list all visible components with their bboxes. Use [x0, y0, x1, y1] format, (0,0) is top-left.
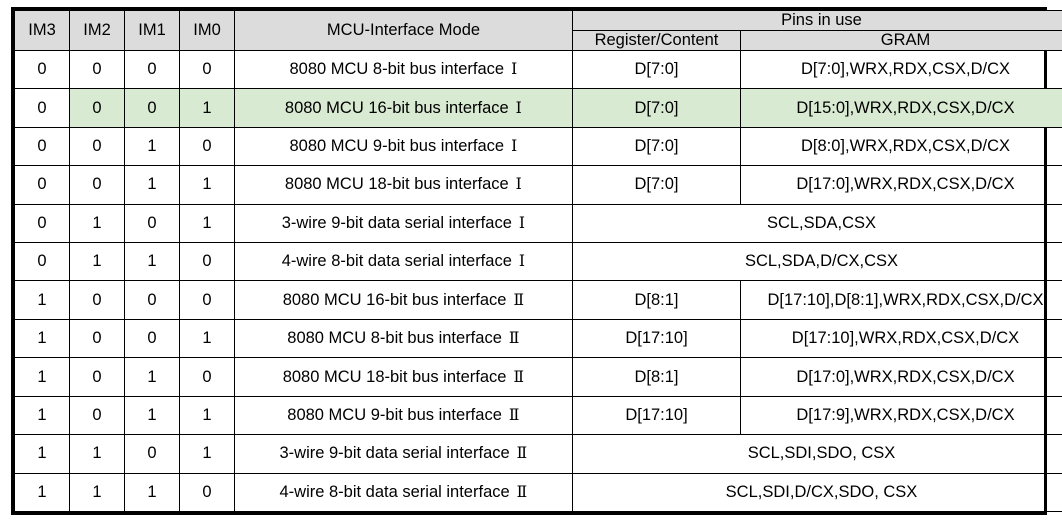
table-row: 00008080 MCU 8-bit bus interfaceⅠD[7:0]D…: [15, 50, 1062, 88]
cell-im0: 1: [180, 89, 235, 127]
mode-roman-numeral: Ⅰ: [504, 138, 517, 155]
table-row: 10018080 MCU 8-bit bus interfaceⅡD[17:10…: [15, 319, 1062, 357]
table-row: 01104-wire 8-bit data serial interfaceⅠS…: [15, 243, 1062, 281]
mode-roman-numeral: Ⅰ: [504, 61, 517, 78]
mode-label: 8080 MCU 8-bit bus interface: [287, 329, 502, 347]
mode-roman-numeral: Ⅱ: [506, 369, 524, 386]
table-row: 00118080 MCU 18-bit bus interfaceⅠD[7:0]…: [15, 166, 1062, 204]
column-header-im2: IM2: [70, 11, 125, 51]
cell-im2: 0: [70, 281, 125, 319]
cell-mcu-interface-mode: 4-wire 8-bit data serial interfaceⅠ: [235, 243, 573, 281]
cell-im0: 1: [180, 319, 235, 357]
cell-im1: 0: [125, 50, 180, 88]
cell-im2: 1: [70, 243, 125, 281]
table-row: 11013-wire 9-bit data serial interfaceⅡS…: [15, 435, 1062, 473]
cell-mcu-interface-mode: 8080 MCU 9-bit bus interfaceⅠ: [235, 127, 573, 165]
mode-roman-numeral: Ⅱ: [510, 484, 528, 501]
mode-label: 3-wire 9-bit data serial interface: [282, 214, 512, 232]
cell-im0: 0: [180, 281, 235, 319]
mode-roman-numeral: Ⅱ: [502, 407, 520, 424]
mcu-interface-mode-table-container: IM3 IM2 IM1 IM0 MCU-Interface Mode Pins …: [11, 7, 1047, 515]
mcu-interface-mode-table: IM3 IM2 IM1 IM0 MCU-Interface Mode Pins …: [14, 10, 1062, 512]
cell-pins-in-use-merged: SCL,SDA,CSX: [573, 204, 1062, 242]
cell-im1: 1: [125, 396, 180, 434]
cell-im3: 0: [15, 243, 70, 281]
mode-label: 4-wire 8-bit data serial interface: [282, 252, 512, 270]
mode-roman-numeral: Ⅱ: [502, 330, 520, 347]
cell-im2: 0: [70, 319, 125, 357]
table-row: 00108080 MCU 9-bit bus interfaceⅠD[7:0]D…: [15, 127, 1062, 165]
cell-mcu-interface-mode: 8080 MCU 16-bit bus interfaceⅡ: [235, 281, 573, 319]
cell-im0: 0: [180, 243, 235, 281]
cell-mcu-interface-mode: 3-wire 9-bit data serial interfaceⅡ: [235, 435, 573, 473]
cell-gram: D[7:0],WRX,RDX,CSX,D/CX: [741, 50, 1062, 88]
cell-gram: D[17:9],WRX,RDX,CSX,D/CX: [741, 396, 1062, 434]
mode-label: 8080 MCU 18-bit bus interface: [283, 368, 507, 386]
cell-mcu-interface-mode: 8080 MCU 16-bit bus interfaceⅠ: [235, 89, 573, 127]
column-header-im1: IM1: [125, 11, 180, 51]
cell-mcu-interface-mode: 8080 MCU 8-bit bus interfaceⅠ: [235, 50, 573, 88]
cell-gram: D[15:0],WRX,RDX,CSX,D/CX: [741, 89, 1062, 127]
mode-label: 8080 MCU 16-bit bus interface: [285, 99, 509, 117]
cell-im1: 1: [125, 127, 180, 165]
cell-im3: 0: [15, 127, 70, 165]
mode-label: 8080 MCU 18-bit bus interface: [285, 175, 509, 193]
cell-im0: 1: [180, 166, 235, 204]
cell-im1: 1: [125, 166, 180, 204]
table-row: 01013-wire 9-bit data serial interfaceⅠS…: [15, 204, 1062, 242]
cell-im1: 0: [125, 89, 180, 127]
cell-im3: 1: [15, 358, 70, 396]
cell-mcu-interface-mode: 8080 MCU 18-bit bus interfaceⅠ: [235, 166, 573, 204]
mode-label: 8080 MCU 16-bit bus interface: [283, 291, 507, 309]
cell-im0: 1: [180, 204, 235, 242]
column-header-mcu-interface-mode: MCU-Interface Mode: [235, 11, 573, 51]
cell-im2: 0: [70, 50, 125, 88]
mode-roman-numeral: Ⅰ: [509, 100, 522, 117]
cell-gram: D[17:10],WRX,RDX,CSX,D/CX: [741, 319, 1062, 357]
cell-im3: 1: [15, 435, 70, 473]
table-row: 11104-wire 8-bit data serial interfaceⅡS…: [15, 473, 1062, 511]
mode-roman-numeral: Ⅱ: [510, 445, 528, 462]
table-body: 00008080 MCU 8-bit bus interfaceⅠD[7:0]D…: [15, 50, 1062, 511]
cell-im0: 0: [180, 50, 235, 88]
column-header-im3: IM3: [15, 11, 70, 51]
cell-im2: 0: [70, 127, 125, 165]
cell-gram: D[17:0],WRX,RDX,CSX,D/CX: [741, 358, 1062, 396]
mode-label: 8080 MCU 9-bit bus interface: [289, 137, 504, 155]
cell-im0: 0: [180, 127, 235, 165]
cell-mcu-interface-mode: 8080 MCU 9-bit bus interfaceⅡ: [235, 396, 573, 434]
table-row: 10118080 MCU 9-bit bus interfaceⅡD[17:10…: [15, 396, 1062, 434]
cell-im3: 1: [15, 473, 70, 511]
column-header-register-content: Register/Content: [573, 30, 741, 50]
cell-mcu-interface-mode: 3-wire 9-bit data serial interfaceⅠ: [235, 204, 573, 242]
cell-im3: 1: [15, 281, 70, 319]
cell-im0: 0: [180, 473, 235, 511]
mode-label: 8080 MCU 8-bit bus interface: [289, 60, 504, 78]
cell-mcu-interface-mode: 8080 MCU 8-bit bus interfaceⅡ: [235, 319, 573, 357]
cell-mcu-interface-mode: 4-wire 8-bit data serial interfaceⅡ: [235, 473, 573, 511]
cell-im3: 1: [15, 319, 70, 357]
cell-im1: 1: [125, 358, 180, 396]
cell-im2: 0: [70, 396, 125, 434]
cell-im2: 0: [70, 166, 125, 204]
cell-im3: 0: [15, 204, 70, 242]
column-header-im0: IM0: [180, 11, 235, 51]
cell-im1: 0: [125, 204, 180, 242]
cell-gram: D[17:10],D[8:1],WRX,RDX,CSX,D/CX: [741, 281, 1062, 319]
cell-register-content: D[17:10]: [573, 319, 741, 357]
cell-register-content: D[7:0]: [573, 166, 741, 204]
cell-im1: 0: [125, 319, 180, 357]
cell-im0: 0: [180, 358, 235, 396]
cell-im0: 1: [180, 435, 235, 473]
column-header-gram: GRAM: [741, 30, 1062, 50]
cell-im2: 0: [70, 358, 125, 396]
cell-im3: 0: [15, 50, 70, 88]
table-row: 10008080 MCU 16-bit bus interfaceⅡD[8:1]…: [15, 281, 1062, 319]
cell-pins-in-use-merged: SCL,SDI,SDO, CSX: [573, 435, 1062, 473]
cell-register-content: D[17:10]: [573, 396, 741, 434]
cell-im2: 1: [70, 435, 125, 473]
mode-label: 8080 MCU 9-bit bus interface: [287, 406, 502, 424]
cell-im2: 1: [70, 204, 125, 242]
cell-mcu-interface-mode: 8080 MCU 18-bit bus interfaceⅡ: [235, 358, 573, 396]
cell-register-content: D[7:0]: [573, 89, 741, 127]
mode-roman-numeral: Ⅰ: [512, 253, 525, 270]
cell-im2: 0: [70, 89, 125, 127]
cell-im2: 1: [70, 473, 125, 511]
cell-pins-in-use-merged: SCL,SDA,D/CX,CSX: [573, 243, 1062, 281]
cell-gram: D[17:0],WRX,RDX,CSX,D/CX: [741, 166, 1062, 204]
cell-im3: 0: [15, 166, 70, 204]
mode-roman-numeral: Ⅰ: [509, 176, 522, 193]
mode-label: 3-wire 9-bit data serial interface: [279, 444, 509, 462]
cell-im1: 1: [125, 243, 180, 281]
cell-im1: 0: [125, 435, 180, 473]
cell-im3: 1: [15, 396, 70, 434]
cell-register-content: D[8:1]: [573, 358, 741, 396]
cell-pins-in-use-merged: SCL,SDI,D/CX,SDO, CSX: [573, 473, 1062, 511]
mode-label: 4-wire 8-bit data serial interface: [279, 483, 509, 501]
cell-register-content: D[7:0]: [573, 127, 741, 165]
column-header-pins-in-use: Pins in use: [573, 11, 1062, 31]
cell-gram: D[8:0],WRX,RDX,CSX,D/CX: [741, 127, 1062, 165]
cell-im1: 1: [125, 473, 180, 511]
table-row: 00018080 MCU 16-bit bus interfaceⅠD[7:0]…: [15, 89, 1062, 127]
cell-register-content: D[7:0]: [573, 50, 741, 88]
cell-im3: 0: [15, 89, 70, 127]
cell-im0: 1: [180, 396, 235, 434]
cell-im1: 0: [125, 281, 180, 319]
cell-register-content: D[8:1]: [573, 281, 741, 319]
header-row-top: IM3 IM2 IM1 IM0 MCU-Interface Mode Pins …: [15, 11, 1062, 31]
table-row: 10108080 MCU 18-bit bus interfaceⅡD[8:1]…: [15, 358, 1062, 396]
mode-roman-numeral: Ⅱ: [506, 292, 524, 309]
table-header: IM3 IM2 IM1 IM0 MCU-Interface Mode Pins …: [15, 11, 1062, 51]
mode-roman-numeral: Ⅰ: [512, 215, 525, 232]
